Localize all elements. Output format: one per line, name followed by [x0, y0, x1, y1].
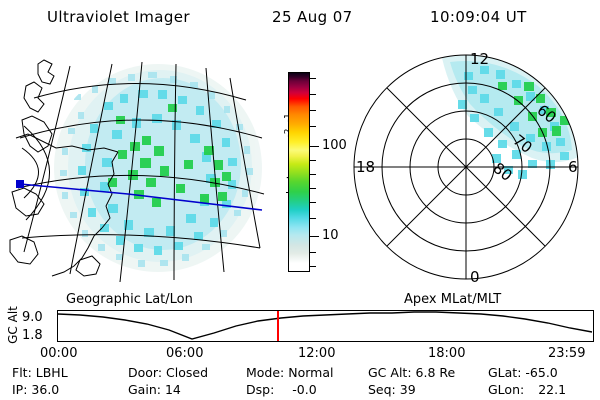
status-ip: IP: 36.0	[12, 382, 59, 397]
colorbar-tick-minor	[310, 174, 316, 175]
colorbar-tick-minor	[310, 252, 316, 253]
uvi-display-window: Ultraviolet Imager 25 Aug 07 10:09:04 UT	[0, 0, 600, 400]
status-filter-value: LBHL	[36, 365, 68, 380]
status-door: Door: Closed	[128, 365, 208, 380]
observation-date: 25 Aug 07	[272, 8, 353, 26]
orbit-altitude-panel[interactable]: GC Alt 9.0 1.8 00:00 06:00 12:00 18:00 2…	[0, 306, 600, 354]
status-gc-alt: GC Alt: 6.8 Re	[368, 365, 455, 380]
colorbar-panel: photon cm-2s-1 100 10	[266, 42, 346, 292]
colorbar-tick-10	[310, 236, 319, 237]
header-bar: Ultraviolet Imager 25 Aug 07 10:09:04 UT	[0, 0, 600, 36]
status-mode: Mode: Normal	[246, 365, 334, 380]
colorbar-tick-minor	[310, 188, 316, 189]
colorbar-tick-minor	[310, 110, 316, 111]
geographic-panel-caption: Geographic Lat/Lon	[66, 292, 193, 307]
colorbar-tick-minor	[310, 78, 316, 79]
apex-dial-panel[interactable]: 12 18 6 0 60 70 80	[346, 42, 596, 292]
status-gain-value: 14	[165, 382, 181, 397]
colorbar-tick-minor	[310, 94, 316, 95]
orbit-xtick: 12:00	[298, 346, 335, 361]
status-seq: Seq: 39	[368, 382, 416, 397]
status-seq-label: Seq:	[368, 382, 396, 397]
status-glat: GLat: -65.0	[488, 365, 558, 380]
orbit-xtick: 18:00	[428, 346, 465, 361]
apex-mlt-label-0: 0	[470, 268, 480, 286]
apex-dial-svg: 12 18 6 0 60 70 80	[346, 42, 596, 292]
status-mode-label: Mode:	[246, 365, 284, 380]
spacecraft-position-marker	[16, 180, 24, 188]
apex-mlt-label-6: 6	[568, 158, 578, 176]
orbit-ytick-high: 9.0	[22, 310, 43, 325]
status-glon-value: 22.1	[538, 382, 566, 397]
status-glat-value: -65.0	[525, 365, 557, 380]
status-ip-value: 36.0	[31, 382, 59, 397]
colorbar-tick-minor	[310, 126, 316, 127]
orbit-xtick: 00:00	[40, 346, 77, 361]
status-filter-label: Flt:	[12, 365, 32, 380]
apex-mlt-spokes	[354, 55, 578, 279]
status-glon-label: GLon:	[488, 382, 524, 397]
status-gc-alt-label: GC Alt:	[368, 365, 412, 380]
orbit-xtick: 23:59	[548, 346, 585, 361]
status-filter: Flt: LBHL	[12, 365, 68, 380]
observation-time: 10:09:04 UT	[430, 8, 527, 26]
colorbar-label-10: 10	[322, 229, 339, 242]
geographic-map-svg	[8, 42, 266, 292]
orbit-y-axis-label: GC Alt	[6, 300, 20, 350]
status-gain: Gain: 14	[128, 382, 181, 397]
geographic-map-panel[interactable]	[8, 42, 266, 292]
apex-aurora-layer	[442, 56, 584, 180]
orbit-altitude-svg	[58, 311, 593, 341]
status-dsp-label: Dsp:	[246, 382, 274, 397]
colorbar-tick-minor	[310, 266, 316, 267]
status-dsp: Dsp: -0.0	[246, 382, 317, 397]
status-dsp-value: -0.0	[292, 382, 316, 397]
apex-panel-caption: Apex MLat/MLT	[404, 292, 501, 307]
status-gc-alt-value: 6.8 Re	[416, 365, 456, 380]
apex-mlt-label-18: 18	[356, 158, 375, 176]
status-glon: GLon: 22.1	[488, 382, 566, 397]
current-time-marker	[277, 311, 279, 341]
status-glat-label: GLat:	[488, 365, 521, 380]
colorbar-label-100: 100	[322, 139, 347, 152]
status-mode-value: Normal	[288, 365, 333, 380]
orbit-plot-area[interactable]	[57, 310, 594, 342]
status-door-label: Door:	[128, 365, 162, 380]
status-gain-label: Gain:	[128, 382, 161, 397]
colorbar-tick-minor	[310, 160, 316, 161]
status-door-value: Closed	[166, 365, 208, 380]
orbit-xtick: 06:00	[166, 346, 203, 361]
status-seq-value: 39	[400, 382, 416, 397]
status-bar: Flt: LBHL Door: Closed Mode: Normal GC A…	[0, 360, 600, 400]
colorbar-tick-minor	[310, 202, 316, 203]
status-ip-label: IP:	[12, 382, 27, 397]
colorbar-tick-minor	[310, 218, 316, 219]
instrument-title: Ultraviolet Imager	[47, 8, 190, 26]
orbit-ytick-low: 1.8	[22, 328, 43, 343]
colorbar-tick-100	[310, 146, 319, 147]
apex-mlt-label-12: 12	[470, 50, 489, 68]
colorbar-gradient[interactable]	[288, 72, 310, 272]
orbit-altitude-curve	[58, 312, 592, 339]
